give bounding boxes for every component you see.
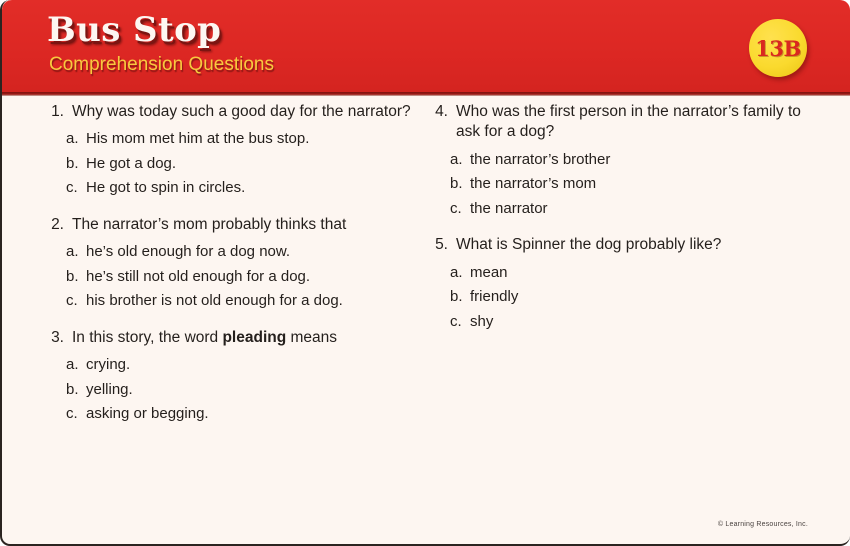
question-number: 2. [42, 215, 72, 235]
answer-choice[interactable]: a.crying. [42, 355, 422, 375]
answer-choice-letter: b. [66, 267, 86, 287]
question-text: Why was today such a good day for the na… [72, 102, 422, 122]
question-bold-word: pleading [222, 329, 286, 346]
answer-choice[interactable]: c.the narrator [426, 199, 821, 219]
question-column-right: 4.Who was the first person in the narrat… [426, 102, 821, 348]
answer-choice[interactable]: c.shy [426, 312, 821, 332]
answer-choice-text: yelling. [86, 380, 422, 400]
answer-choice-letter: c. [450, 312, 470, 332]
answer-choice[interactable]: c.his brother is not old enough for a do… [42, 291, 422, 311]
answer-choice-text: friendly [470, 287, 821, 307]
question-block: 2.The narrator’s mom probably thinks tha… [42, 215, 422, 311]
worksheet-card: Bus Stop Comprehension Questions 13B 1.W… [0, 0, 850, 546]
answer-choice[interactable]: b.He got a dog. [42, 154, 422, 174]
copyright-notice: © Learning Resources, Inc. [718, 521, 808, 528]
answer-choice-text: mean [470, 263, 821, 283]
answer-choice-letter: b. [66, 154, 86, 174]
answer-choice[interactable]: a.His mom met him at the bus stop. [42, 129, 422, 149]
answer-choice-letter: c. [66, 178, 86, 198]
answer-choice[interactable]: c.He got to spin in circles. [42, 178, 422, 198]
question-row: 5.What is Spinner the dog probably like? [426, 235, 821, 255]
answer-choice-letter: a. [66, 242, 86, 262]
question-number: 3. [42, 328, 72, 348]
answer-choice-letter: b. [66, 380, 86, 400]
answer-choice[interactable]: a.the narrator’s brother [426, 150, 821, 170]
answer-choice-letter: a. [66, 129, 86, 149]
question-block: 1.Why was today such a good day for the … [42, 102, 422, 198]
question-row: 1.Why was today such a good day for the … [42, 102, 422, 122]
answer-choice-text: He got to spin in circles. [86, 178, 422, 198]
card-header: Bus Stop Comprehension Questions 13B [2, 0, 850, 92]
question-number: 5. [426, 235, 456, 255]
answer-choice-text: the narrator’s mom [470, 174, 821, 194]
question-block: 5.What is Spinner the dog probably like?… [426, 235, 821, 331]
answer-choice[interactable]: c.asking or begging. [42, 404, 422, 424]
answer-choice-text: his brother is not old enough for a dog. [86, 291, 422, 311]
answer-choice-letter: a. [66, 355, 86, 375]
question-number: 4. [426, 102, 456, 122]
question-block: 4.Who was the first person in the narrat… [426, 102, 821, 218]
question-row: 3.In this story, the word pleading means [42, 328, 422, 348]
answer-choice-text: he’s old enough for a dog now. [86, 242, 422, 262]
answer-choice[interactable]: b.yelling. [42, 380, 422, 400]
answer-choice-letter: c. [66, 404, 86, 424]
answer-choice-text: the narrator’s brother [470, 150, 821, 170]
answer-choice-text: shy [470, 312, 821, 332]
answer-choice-text: asking or begging. [86, 404, 422, 424]
answer-choice[interactable]: b.friendly [426, 287, 821, 307]
questions-area: 1.Why was today such a good day for the … [2, 96, 850, 546]
answer-choice-text: His mom met him at the bus stop. [86, 129, 422, 149]
answer-choice-letter: b. [450, 287, 470, 307]
question-column-left: 1.Why was today such a good day for the … [42, 102, 422, 441]
answer-choice-letter: b. [450, 174, 470, 194]
answer-choice-text: the narrator [470, 199, 821, 219]
answer-choice[interactable]: a.he’s old enough for a dog now. [42, 242, 422, 262]
question-row: 4.Who was the first person in the narrat… [426, 102, 821, 143]
question-row: 2.The narrator’s mom probably thinks tha… [42, 215, 422, 235]
question-text: The narrator’s mom probably thinks that [72, 215, 422, 235]
answer-choice[interactable]: b.he’s still not old enough for a dog. [42, 267, 422, 287]
question-text: Who was the first person in the narrator… [456, 102, 821, 143]
answer-choice-text: he’s still not old enough for a dog. [86, 267, 422, 287]
lesson-badge: 13B [749, 19, 807, 77]
answer-choice[interactable]: a.mean [426, 263, 821, 283]
answer-choice-letter: c. [450, 199, 470, 219]
page-title: Bus Stop [47, 10, 221, 50]
answer-choice-text: He got a dog. [86, 154, 422, 174]
lesson-badge-label: 13B [749, 19, 807, 77]
answer-choice-text: crying. [86, 355, 422, 375]
answer-choice-letter: a. [450, 150, 470, 170]
question-text: What is Spinner the dog probably like? [456, 235, 821, 255]
question-block: 3.In this story, the word pleading means… [42, 328, 422, 424]
answer-choice[interactable]: b.the narrator’s mom [426, 174, 821, 194]
question-number: 1. [42, 102, 72, 122]
answer-choice-letter: c. [66, 291, 86, 311]
question-text: In this story, the word pleading means [72, 328, 422, 348]
answer-choice-letter: a. [450, 263, 470, 283]
page-subtitle: Comprehension Questions [49, 54, 274, 76]
